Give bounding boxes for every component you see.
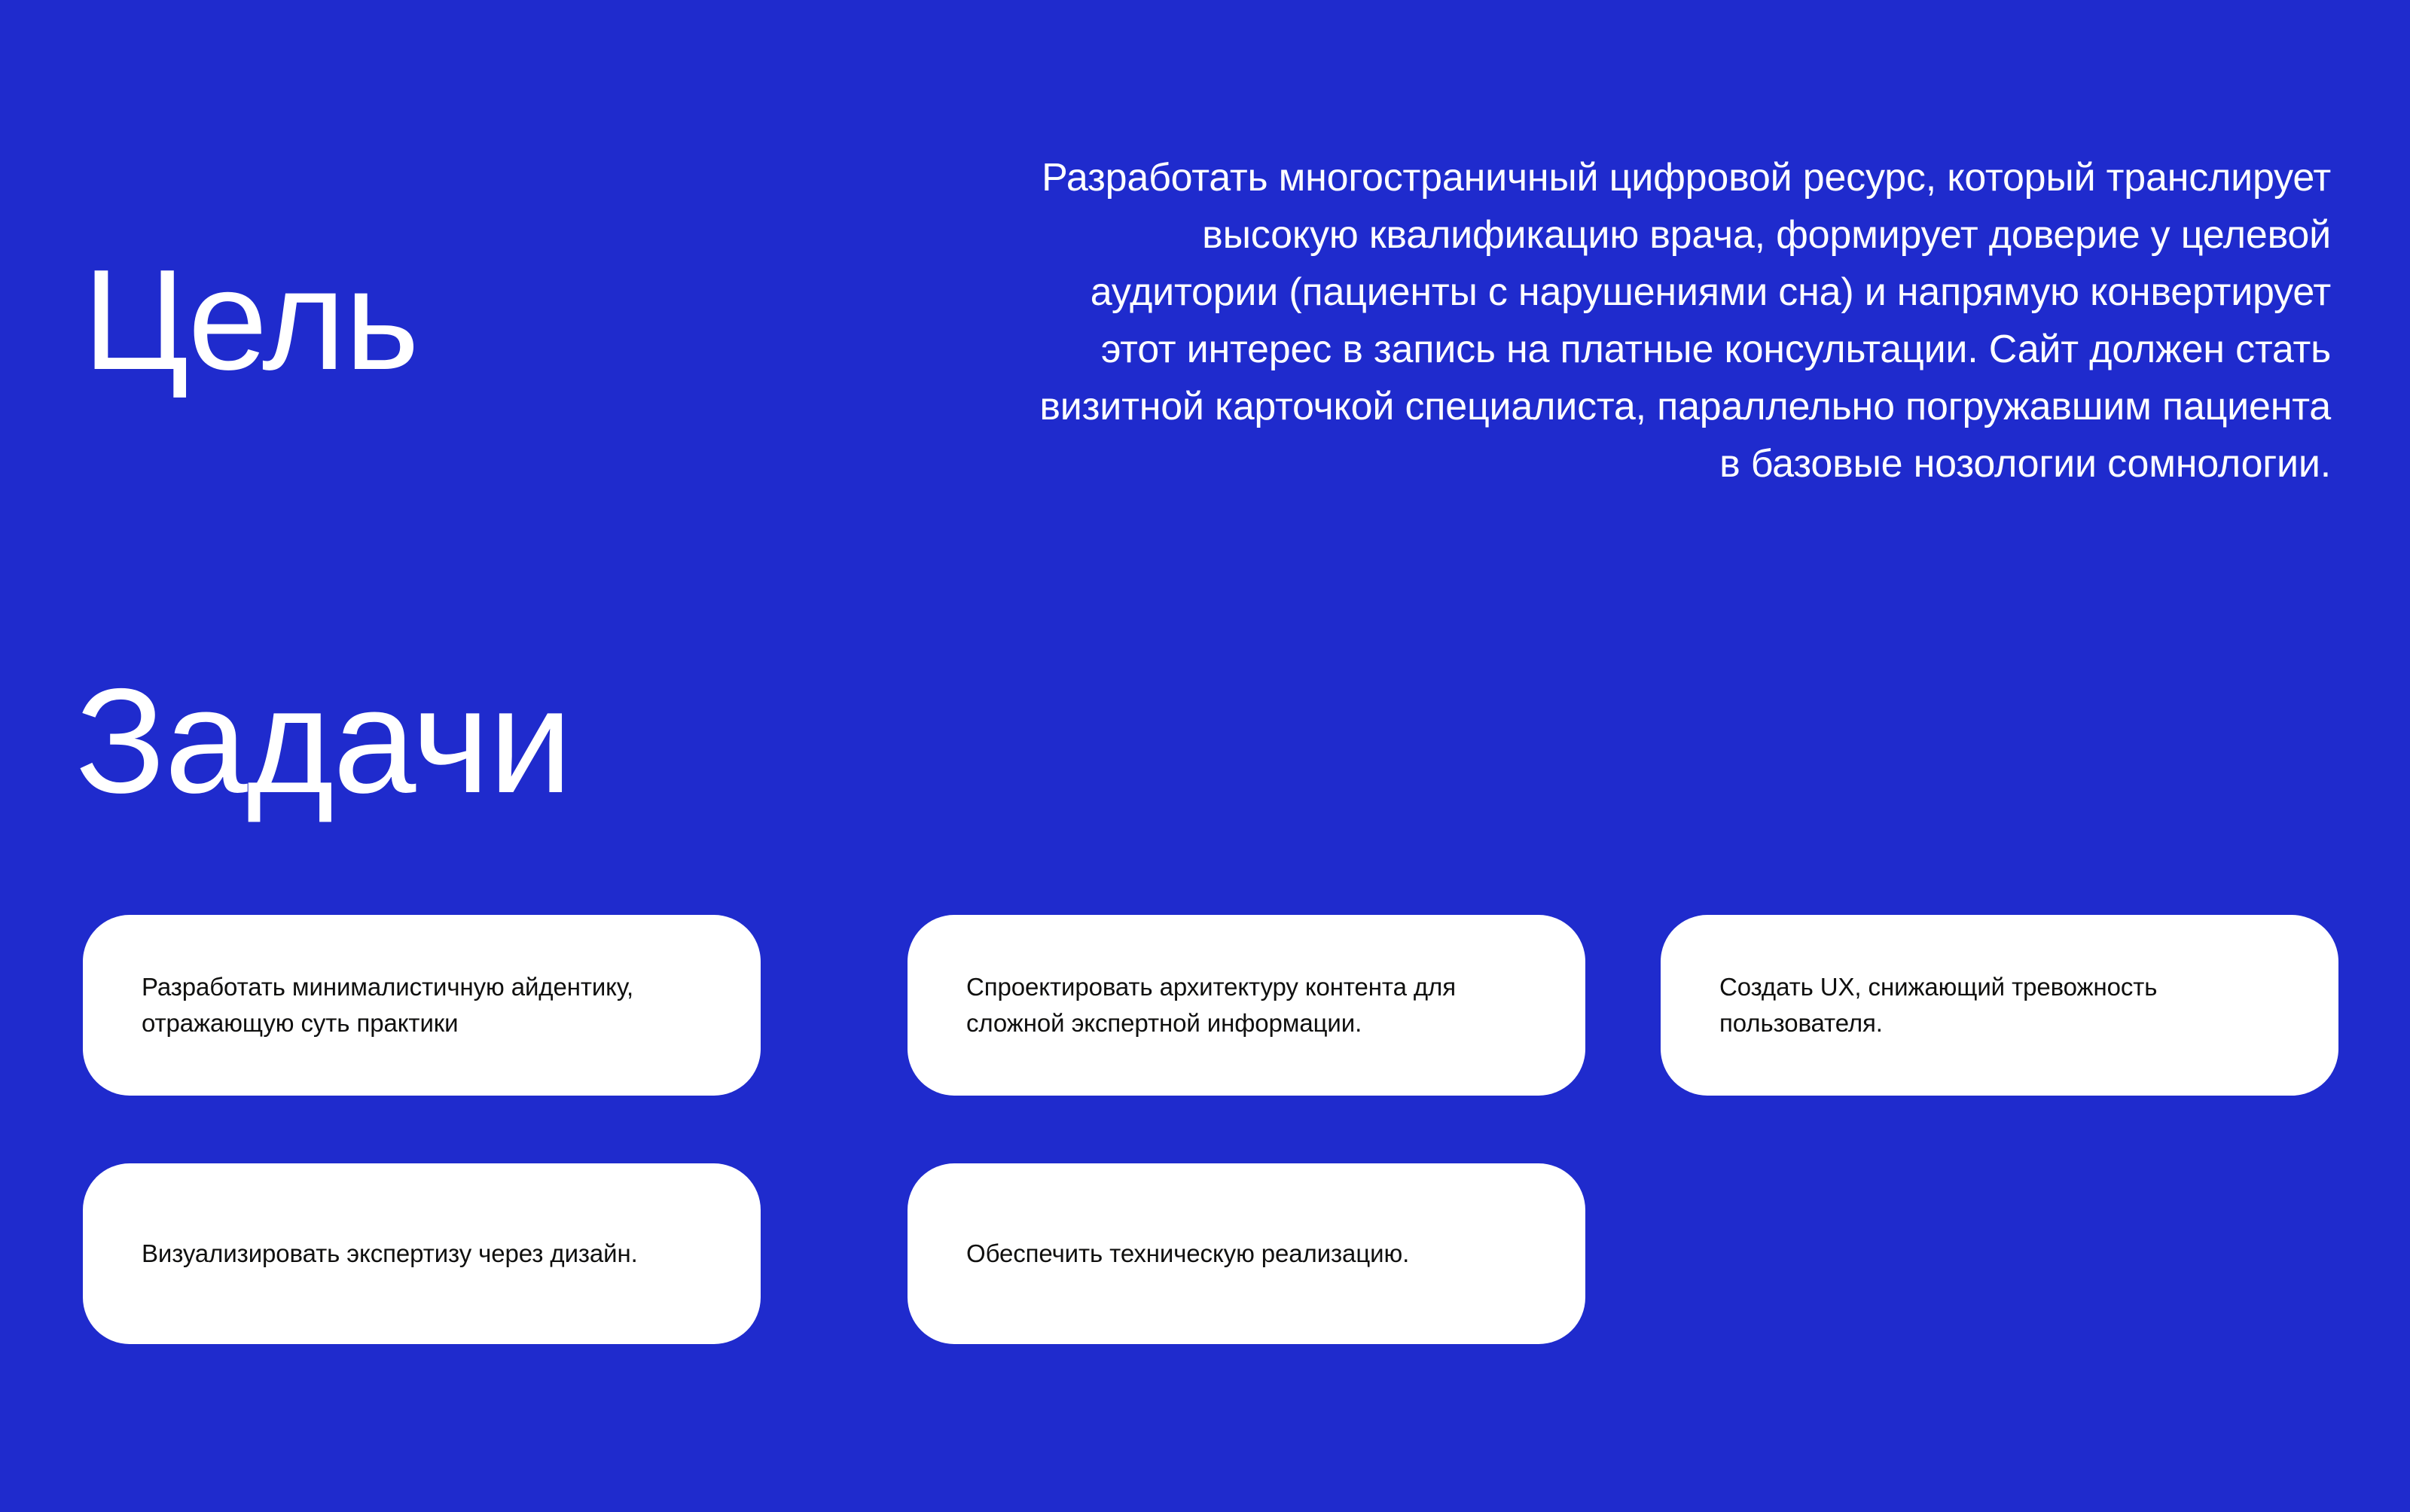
tasks-heading: Задачи	[75, 666, 572, 815]
task-card[interactable]: Обеспечить техническую реализацию.	[908, 1163, 1585, 1344]
tasks-card-row: Разработать минималистичную айдентику, о…	[0, 915, 2410, 1096]
goal-section: Цель Разработать многостраничный цифрово…	[0, 0, 2410, 572]
task-card-label: Визуализировать экспертизу через дизайн.	[83, 1236, 692, 1272]
tasks-card-row: Визуализировать экспертизу через дизайн.…	[0, 1163, 2410, 1344]
task-card-label: Обеспечить техническую реализацию.	[908, 1236, 1463, 1272]
task-card[interactable]: Визуализировать экспертизу через дизайн.	[83, 1163, 761, 1344]
task-card-label: Создать UX, снижающий тревожность пользо…	[1661, 969, 2338, 1041]
task-card-label: Спроектировать архитектуру контента для …	[908, 969, 1585, 1041]
goal-heading: Цель	[83, 248, 419, 392]
tasks-card-grid: Разработать минималистичную айдентику, о…	[0, 915, 2410, 1412]
task-card[interactable]: Спроектировать архитектуру контента для …	[908, 915, 1585, 1096]
task-card[interactable]: Разработать минималистичную айдентику, о…	[83, 915, 761, 1096]
goal-paragraph: Разработать многостраничный цифровой рес…	[1036, 149, 2331, 492]
task-card-label: Разработать минималистичную айдентику, о…	[83, 969, 761, 1041]
task-card[interactable]: Создать UX, снижающий тревожность пользо…	[1661, 915, 2338, 1096]
tasks-section: Задачи Разработать минималистичную айден…	[0, 572, 2410, 1512]
slide-root: Цель Разработать многостраничный цифрово…	[0, 0, 2410, 1512]
